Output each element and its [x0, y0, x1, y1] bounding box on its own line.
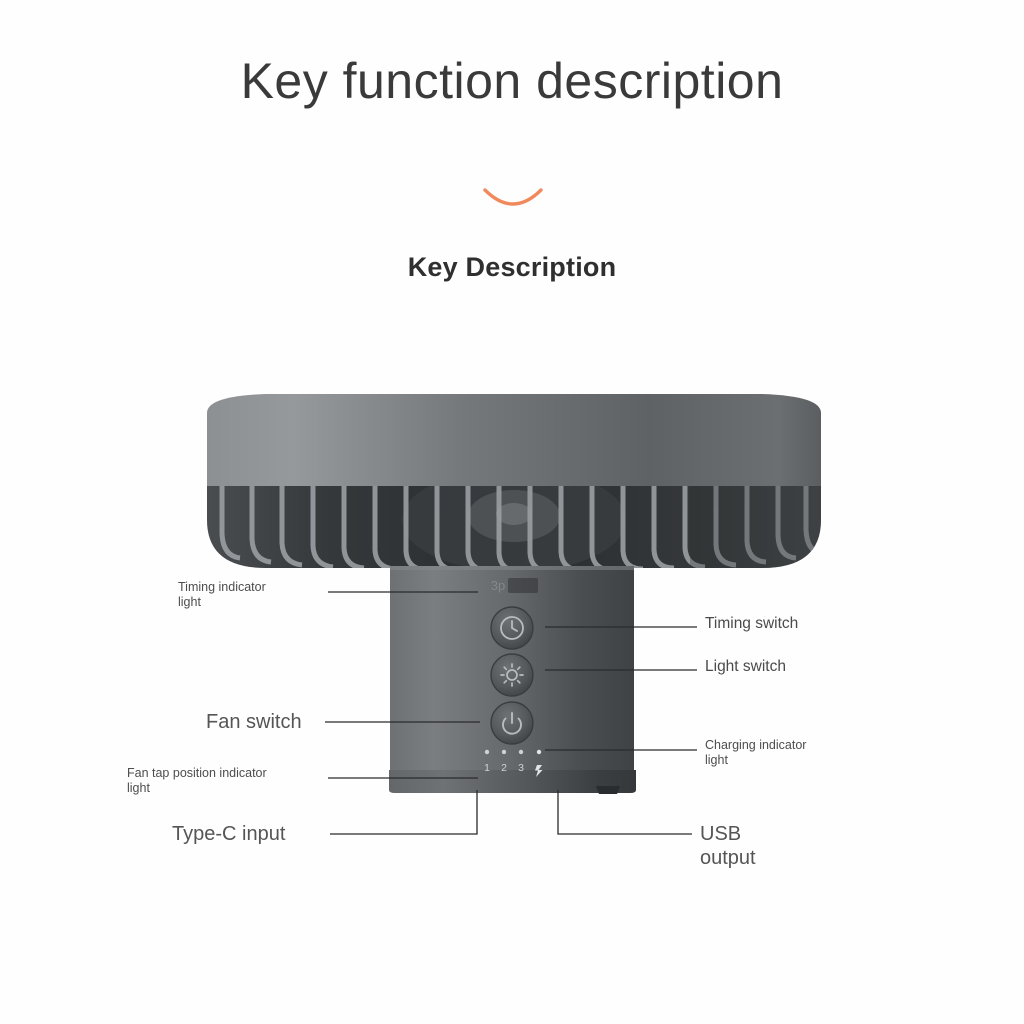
callout-type-c-input: Type-C input	[172, 822, 285, 846]
dot-label-2: 2	[501, 762, 507, 774]
power-icon	[503, 713, 521, 734]
fan-grille	[207, 468, 825, 576]
sun-icon	[501, 664, 523, 686]
fan-base	[389, 770, 636, 793]
smile-arc-decoration	[482, 186, 544, 216]
light-switch-button[interactable]	[491, 654, 533, 696]
callout-fan-tap-position-indicator-light: Fan tap position indicator light	[127, 766, 267, 797]
callout-usb-output: USB output	[700, 822, 756, 871]
product-illustration: 3p	[0, 0, 1024, 1024]
lightning-bolt-icon	[535, 765, 543, 777]
page-title: Key function description	[0, 52, 1024, 110]
brand-logo-mark	[508, 578, 538, 593]
dot-label-1: 1	[484, 762, 490, 774]
callout-timing-switch: Timing switch	[705, 615, 798, 634]
callout-timing-indicator-light: Timing indicator light	[178, 580, 266, 611]
leader-type-c-input	[330, 790, 477, 834]
leader-lines	[0, 0, 1024, 1024]
callout-fan-switch: Fan switch	[206, 710, 302, 734]
callout-light-switch: Light switch	[705, 658, 786, 677]
leader-usb-output	[558, 790, 692, 834]
fan-switch-button[interactable]	[491, 702, 533, 744]
fan-body	[390, 566, 634, 786]
callout-charging-indicator-light: Charging indicator light	[705, 738, 806, 769]
smile-arc-icon	[482, 186, 544, 216]
usb-port-nub	[596, 786, 620, 794]
fan-head-band	[207, 394, 821, 488]
indicator-dots-row: 1 2 3	[484, 750, 542, 777]
timing-switch-button[interactable]	[491, 607, 533, 649]
clock-icon	[501, 617, 523, 639]
brand-mark-3p: 3p	[491, 578, 505, 593]
dot-label-3: 3	[518, 762, 524, 774]
page-root: Key function description Key Description	[0, 0, 1024, 1024]
section-subtitle: Key Description	[0, 252, 1024, 283]
